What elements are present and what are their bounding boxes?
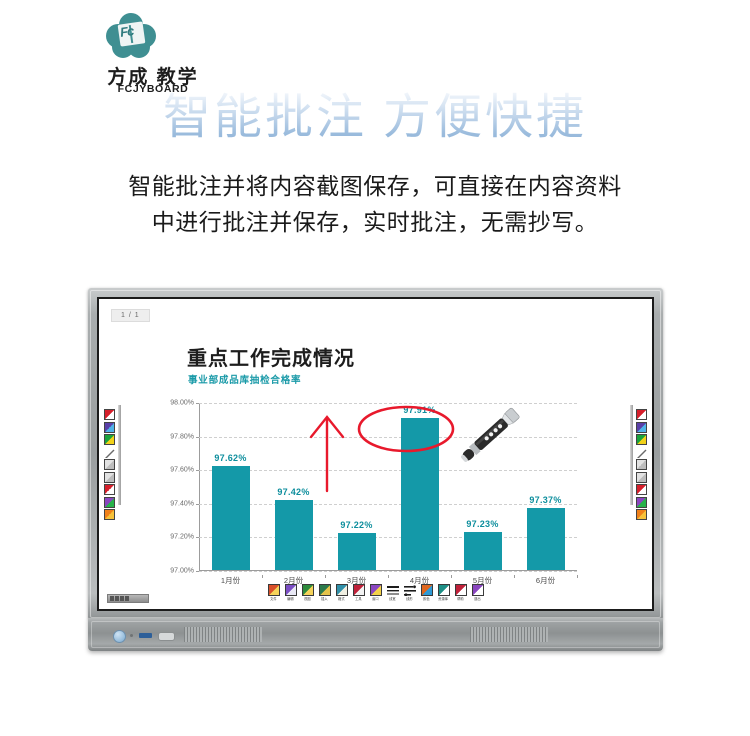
bar-item: 97.91% <box>388 403 451 570</box>
y-tick-label: 97.20% <box>170 534 194 541</box>
power-button[interactable] <box>113 630 126 643</box>
toolbar-button-label: 退出 <box>474 596 480 601</box>
subtitle-line-2: 中进行批注并保存，实时批注，无需抄写。 <box>40 204 710 240</box>
chart-subtitle: 事业部成品库抽检合格率 <box>188 372 301 386</box>
undo-tool[interactable] <box>104 472 115 483</box>
bar-value-label: 97.23% <box>466 519 498 529</box>
bar-rect <box>275 500 313 570</box>
toolbar-button-label: 视图 <box>304 596 310 601</box>
toolbar-button-label: 格式 <box>338 596 344 601</box>
screen-status-strip <box>107 594 149 603</box>
y-tick-label: 97.60% <box>170 467 194 474</box>
right-rail-bar <box>630 405 633 505</box>
bar-rect <box>464 532 502 570</box>
toolbar-button-label: 窗口 <box>372 596 378 601</box>
toolbar-button-label: 插入 <box>321 596 327 601</box>
toolbar-button-label: 文件 <box>270 596 276 601</box>
exit-icon[interactable] <box>472 584 484 596</box>
slide-bottom-toolbar[interactable]: 文件编辑视图插入格式工具窗口线宽线形颜色资源库帮助退出 <box>99 584 652 602</box>
toolbar-button[interactable]: 帮助 <box>454 584 468 602</box>
bar-item: 97.62% <box>199 403 262 570</box>
insert-icon[interactable] <box>319 584 331 596</box>
toolbar-button[interactable]: 资源库 <box>437 584 451 602</box>
y-tick-label: 97.80% <box>170 433 194 440</box>
x-tick-mark <box>451 575 452 578</box>
bar-rect <box>527 508 565 570</box>
toolbar-button[interactable]: 线形 <box>403 584 417 602</box>
bar-value-label: 97.62% <box>214 453 246 463</box>
display-bezel: 1 / 1 重点工作完成情况 事业部成品库抽检合格率 97.00%97.20%9… <box>88 288 663 620</box>
help-icon[interactable] <box>455 584 467 596</box>
align-icon[interactable] <box>404 584 416 596</box>
toolbar-button[interactable]: 文件 <box>267 584 281 602</box>
toolbar-button[interactable]: 视图 <box>301 584 315 602</box>
usb-port <box>139 633 152 638</box>
bar-item: 97.22% <box>325 403 388 570</box>
toolbar-button[interactable]: 格式 <box>335 584 349 602</box>
x-tick-mark <box>262 575 263 578</box>
toolbar-button[interactable]: 颜色 <box>420 584 434 602</box>
view-icon[interactable] <box>302 584 314 596</box>
status-led-icon <box>130 634 133 637</box>
pen-tool[interactable] <box>104 409 115 420</box>
edit-icon[interactable] <box>285 584 297 596</box>
gridline <box>199 571 577 572</box>
toolbar-button-label: 线宽 <box>389 596 395 601</box>
page-headline: 智能批注方便快捷 <box>0 92 750 145</box>
device-bottom-bar <box>88 618 663 651</box>
headline-part-1: 智能批注 <box>163 91 367 144</box>
line-tool[interactable] <box>104 447 115 458</box>
speaker-grille-right <box>470 627 548 642</box>
y-tick-label: 98.00% <box>170 400 194 407</box>
headline-part-2: 方便快捷 <box>383 91 587 144</box>
right-tool-rail[interactable] <box>634 409 649 522</box>
color-palette-tool[interactable] <box>104 434 115 445</box>
bar-value-label: 97.91% <box>403 405 435 415</box>
library-icon[interactable] <box>438 584 450 596</box>
toolbar-button[interactable]: 工具 <box>352 584 366 602</box>
bar-value-label: 97.37% <box>529 495 561 505</box>
highlighter-tool[interactable] <box>636 422 647 433</box>
pen-tool[interactable] <box>636 409 647 420</box>
more-tool[interactable] <box>636 509 647 520</box>
bar-item: 97.42% <box>262 403 325 570</box>
undo-tool[interactable] <box>636 472 647 483</box>
screenshot-tool[interactable] <box>104 497 115 508</box>
bar-rect <box>401 418 439 570</box>
file-icon[interactable] <box>268 584 280 596</box>
eraser-tool[interactable] <box>104 459 115 470</box>
speaker-grille-left <box>184 627 262 642</box>
bar-rect <box>212 466 250 570</box>
window-icon[interactable] <box>370 584 382 596</box>
io-port <box>158 632 175 641</box>
toolbar-button-label: 工具 <box>355 596 361 601</box>
tools-icon[interactable] <box>353 584 365 596</box>
left-tool-rail[interactable] <box>102 409 117 522</box>
x-tick-mark <box>577 575 578 578</box>
stylus-pen <box>451 399 529 474</box>
lines-icon[interactable] <box>387 584 399 596</box>
x-tick-mark <box>325 575 326 578</box>
toolbar-button-label: 颜色 <box>423 596 429 601</box>
brand-logo: Fc 方成 教学 FCJYBOARD <box>78 14 228 92</box>
display-screen[interactable]: 1 / 1 重点工作完成情况 事业部成品库抽检合格率 97.00%97.20%9… <box>97 297 654 611</box>
eraser-tool[interactable] <box>636 459 647 470</box>
x-tick-mark <box>388 575 389 578</box>
save-tool[interactable] <box>104 484 115 495</box>
toolbar-button[interactable]: 退出 <box>471 584 485 602</box>
subtitle-line-1: 智能批注并将内容截图保存，可直接在内容资料 <box>40 168 710 204</box>
x-tick-mark <box>514 575 515 578</box>
screenshot-tool[interactable] <box>636 497 647 508</box>
color-palette-tool[interactable] <box>636 434 647 445</box>
chart-title: 重点工作完成情况 <box>187 342 355 371</box>
logo-flower-mark: Fc <box>106 14 156 60</box>
bar-value-label: 97.42% <box>277 487 309 497</box>
format-icon[interactable] <box>336 584 348 596</box>
bar-value-label: 97.22% <box>340 520 372 530</box>
line-tool[interactable] <box>636 447 647 458</box>
toolbar-button[interactable]: 编辑 <box>284 584 298 602</box>
presentation-slide: 重点工作完成情况 事业部成品库抽检合格率 97.00%97.20%97.40%9… <box>99 299 652 609</box>
toolbar-button-label: 线形 <box>406 596 412 601</box>
toolbar-button-label: 资源库 <box>439 596 449 601</box>
more-tool[interactable] <box>104 509 115 520</box>
y-tick-label: 97.40% <box>170 500 194 507</box>
color-fill-icon[interactable] <box>421 584 433 596</box>
y-tick-label: 97.00% <box>170 568 194 575</box>
toolbar-button[interactable]: 窗口 <box>369 584 383 602</box>
bar-rect <box>338 533 376 570</box>
toolbar-button-label: 编辑 <box>287 596 293 601</box>
toolbar-button-label: 帮助 <box>457 596 463 601</box>
highlighter-tool[interactable] <box>104 422 115 433</box>
interactive-whiteboard-device: 1 / 1 重点工作完成情况 事业部成品库抽检合格率 97.00%97.20%9… <box>88 288 663 653</box>
toolbar-button[interactable]: 插入 <box>318 584 332 602</box>
save-tool[interactable] <box>636 484 647 495</box>
logo-monogram: Fc <box>119 23 134 40</box>
page-subtitle: 智能批注并将内容截图保存，可直接在内容资料 中进行批注并保存，实时批注，无需抄写… <box>40 168 710 240</box>
toolbar-button[interactable]: 线宽 <box>386 584 400 602</box>
y-tick-mark <box>196 571 199 572</box>
left-rail-bar <box>118 405 121 505</box>
